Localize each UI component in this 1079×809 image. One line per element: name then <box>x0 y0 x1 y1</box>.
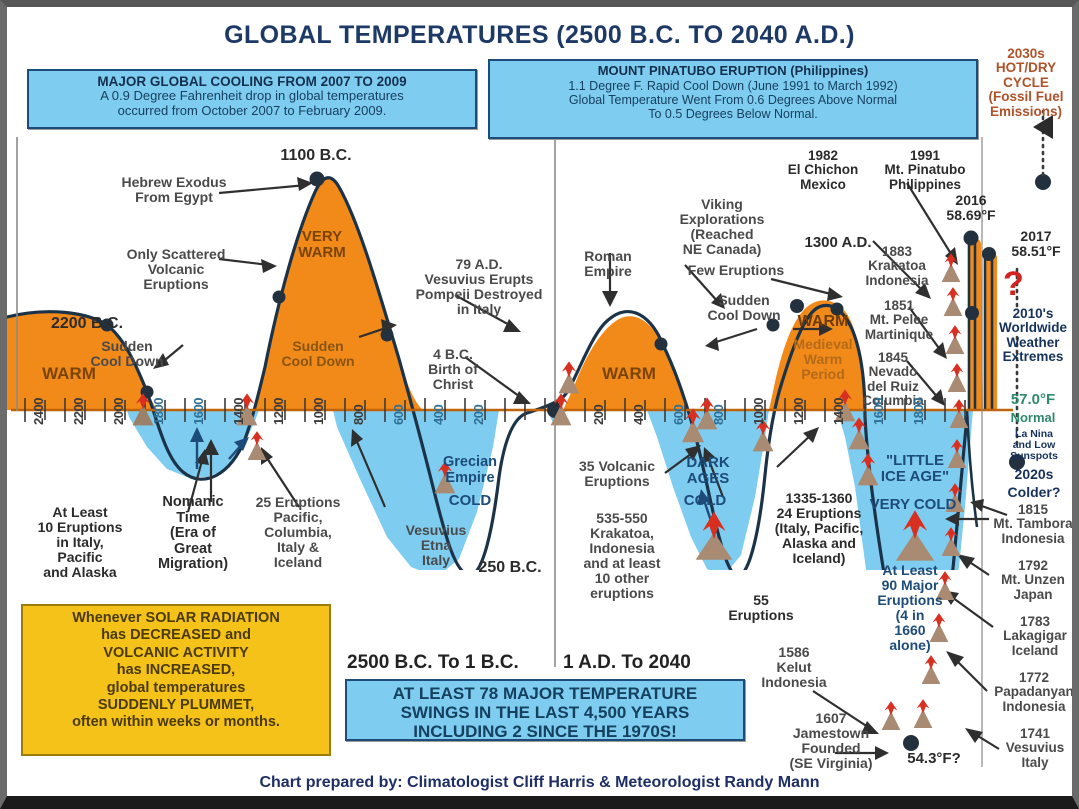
callout-cooling-line3: occurred from October 2007 to February 2… <box>33 104 471 119</box>
annotation-normal-word: Normal <box>987 411 1079 425</box>
annotation-vesuvius-etna: Vesuvius Etna Italy <box>395 523 477 568</box>
x-tick-ad-1400: 1400 <box>831 398 846 425</box>
annotation-at-least-10-eruptions: At Least 10 Eruptions in Italy, Pacific … <box>15 505 145 580</box>
callout-pinatubo-line3: Global Temperature Went From 0.6 Degrees… <box>494 93 972 107</box>
annotation-pinatubo-1991: 1991 Mt. Pinatubo Philippines <box>871 149 979 192</box>
annotation-warm-medieval: WARM <box>783 313 863 330</box>
axis-ticks <box>25 398 965 422</box>
x-tick-bc-600: 600 <box>391 405 406 425</box>
x-tick-bc-1200: 1200 <box>271 398 286 425</box>
annotation-el-chichon-1982: 1982 El Chichon Mexico <box>771 149 875 192</box>
x-tick-bc-2200: 2200 <box>71 398 86 425</box>
annotation-lanina-sunspots: La Nina and Low Sunspots <box>989 429 1079 463</box>
callout-pinatubo: MOUNT PINATUBO ERUPTION (Philippines) 1.… <box>488 59 978 139</box>
chart-image: GLOBAL TEMPERATURES (2500 B.C. TO 2040 A… <box>0 0 1079 809</box>
x-tick-bc-1800: 1800 <box>151 398 166 425</box>
annotation-scattered-volcanic: Only Scattered Volcanic Eruptions <box>115 247 237 292</box>
annotation-tambora-1815: 1815 Mt. Tambora Indonesia <box>983 503 1079 546</box>
annotation-cold-grecian: COLD <box>427 493 513 509</box>
callout-solar-radiation: Whenever SOLAR RADIATION has DECREASED a… <box>21 604 331 756</box>
annotation-laki-1783: 1783 Lakagigar Iceland <box>987 615 1079 658</box>
solar-line2: has DECREASED and <box>28 627 324 644</box>
annotation-grecian-empire: Grecian Empire <box>425 455 515 486</box>
page-title: GLOBAL TEMPERATURES (2500 B.C. TO 2040 A… <box>7 21 1072 50</box>
annotation-kelut-1586: 1586 Kelut Indonesia <box>751 645 837 690</box>
callout-pinatubo-line1: MOUNT PINATUBO ERUPTION (Philippines) <box>494 64 972 79</box>
x-tick-ad-1000: 1000 <box>751 398 766 425</box>
annotation-sudden-cool-2: Sudden Cool Down <box>259 339 377 369</box>
annotation-2200bc: 2200 B.C. <box>23 315 151 332</box>
x-tick-bc-400: 400 <box>431 405 446 425</box>
section-label-bc: 2500 B.C. To 1 B.C. <box>347 652 519 674</box>
x-tick-bc-800: 800 <box>351 405 366 425</box>
annotation-nomadic-time: Nomanic Time (Era of Great Migration) <box>147 495 239 573</box>
annotation-jamestown-1607: 1607 Jamestown Founded (SE Virginia) <box>767 711 895 771</box>
x-tick-ad-1200: 1200 <box>791 398 806 425</box>
swings-line1: AT LEAST 78 MAJOR TEMPERATURE <box>351 684 739 703</box>
x-tick-ad-1600: 1600 <box>871 398 886 425</box>
callout-temperature-swings: AT LEAST 78 MAJOR TEMPERATURE SWINGS IN … <box>345 679 745 741</box>
annotation-vesuvius-1741: 1741 Vesuvius Italy <box>987 727 1079 770</box>
annotation-25-eruptions: 25 Eruptions Pacific, Columbia, Italy & … <box>243 495 353 570</box>
annotation-2030s-hot-dry: 2030s HOT/DRY CYCLE (Fossil Fuel Emissio… <box>971 47 1079 119</box>
callout-cooling-line2: A 0.9 Degree Fahrenheit drop in global t… <box>33 89 471 104</box>
annotation-krakatoa-1883: 1883 Krakatoa Indonesia <box>855 245 939 288</box>
annotation-sudden-cool-1: Sudden Cool Down <box>67 339 187 369</box>
annotation-2020s-colder: Colder? <box>989 485 1079 500</box>
annotation-warm-roman: WARM <box>587 365 671 383</box>
annotation-cold-dark-ages: COLD <box>671 493 739 509</box>
x-tick-bc-2000: 2000 <box>111 398 126 425</box>
callout-cooling-line1: MAJOR GLOBAL COOLING FROM 2007 TO 2009 <box>33 74 471 89</box>
annotation-little-ice-age: "LITTLE ICE AGE" <box>869 453 961 485</box>
annotation-2020s: 2020s <box>989 467 1079 482</box>
annotation-medieval-warm-period: Medieval Warm Period <box>783 337 863 382</box>
annotation-2010s-extremes: 2010's Worldwide Weather Extremes <box>987 307 1079 365</box>
annotation-vesuvius-79ad: 79 A.D. Vesuvius Erupts Pompeii Destroye… <box>405 257 553 317</box>
annotation-roman-empire: Roman Empire <box>567 249 649 279</box>
solar-line3: VOLCANIC ACTIVITY <box>28 645 324 662</box>
x-tick-ad-600: 600 <box>671 405 686 425</box>
annotation-jamestown-temp: 54.3°F? <box>893 751 975 767</box>
annotation-question-mark: ? <box>1003 267 1024 301</box>
solar-line1: Whenever SOLAR RADIATION <box>28 610 324 627</box>
x-tick-ad-1800: 1800 <box>911 398 926 425</box>
annotation-krakatoa-535: 535-550 Krakatoa, Indonesia and at least… <box>563 511 681 601</box>
annotation-few-eruptions: Few Eruptions <box>673 263 799 278</box>
annotation-90-major-eruptions: At Least 90 Major Eruptions (4 in 1660 a… <box>869 563 951 653</box>
callout-pinatubo-line2: 1.1 Degree F. Rapid Cool Down (June 1991… <box>494 79 972 93</box>
solar-line4: has INCREASED, <box>28 662 324 679</box>
x-tick-ad-400: 400 <box>631 405 646 425</box>
x-tick-bc-1600: 1600 <box>191 398 206 425</box>
annotation-viking-explorations: Viking Explorations (Reached NE Canada) <box>667 197 777 257</box>
chart-canvas: GLOBAL TEMPERATURES (2500 B.C. TO 2040 A… <box>7 7 1072 796</box>
x-tick-ad-800: 800 <box>711 405 726 425</box>
annotation-dark-ages: DARK AGES <box>673 455 743 487</box>
annotation-250bc: 250 B.C. <box>467 559 553 576</box>
swings-line3: INCLUDING 2 SINCE THE 1970S! <box>351 722 739 741</box>
annotation-normal-temp: 57.0°F <box>987 392 1079 408</box>
annotation-very-warm: VERY WARM <box>285 229 359 261</box>
swings-line2: SWINGS IN THE LAST 4,500 YEARS <box>351 703 739 722</box>
x-tick-bc-200: 200 <box>471 405 486 425</box>
x-tick-ad-200: 200 <box>591 405 606 425</box>
solar-line6: SUDDENLY PLUMMET, <box>28 697 324 714</box>
annotation-35-volcanic: 35 Volcanic Eruptions <box>559 459 675 489</box>
annotation-sudden-cool-3: Sudden Cool Down <box>691 293 797 323</box>
annotation-peak-1100bc: 1100 B.C. <box>251 147 381 164</box>
callout-pinatubo-line4: To 0.5 Degrees Below Normal. <box>494 107 972 121</box>
annotation-pelee-1851: 1851 Mt. Pelee Martinique <box>855 299 943 342</box>
annotation-55-eruptions: 55 Eruptions <box>721 593 801 623</box>
annotation-papadayan-1772: 1772 Papadanyan Indonesia <box>983 671 1079 714</box>
annotation-very-cold: VERY COLD <box>859 497 967 513</box>
annotation-birth-of-christ: 4 B.C. Birth of Christ <box>407 347 499 392</box>
x-tick-bc-1400: 1400 <box>231 398 246 425</box>
section-label-ad: 1 A.D. To 2040 <box>563 652 691 674</box>
annotation-unzen-1792: 1792 Mt. Unzen Japan <box>985 559 1079 602</box>
annotation-peak-2016: 2016 58.69°F <box>925 193 1017 223</box>
annotation-hebrew-exodus: Hebrew Exodus From Egypt <box>115 175 233 205</box>
solar-line7: often within weeks or months. <box>28 714 324 731</box>
callout-cooling-2007: MAJOR GLOBAL COOLING FROM 2007 TO 2009 A… <box>27 69 477 129</box>
x-tick-bc-1000: 1000 <box>311 398 326 425</box>
solar-line5: global temperatures <box>28 680 324 697</box>
x-tick-bc-2400: 2400 <box>31 398 46 425</box>
chart-credit: Chart prepared by: Climatologist Cliff H… <box>7 774 1072 792</box>
annotation-peak-2017: 2017 58.51°F <box>993 229 1079 259</box>
